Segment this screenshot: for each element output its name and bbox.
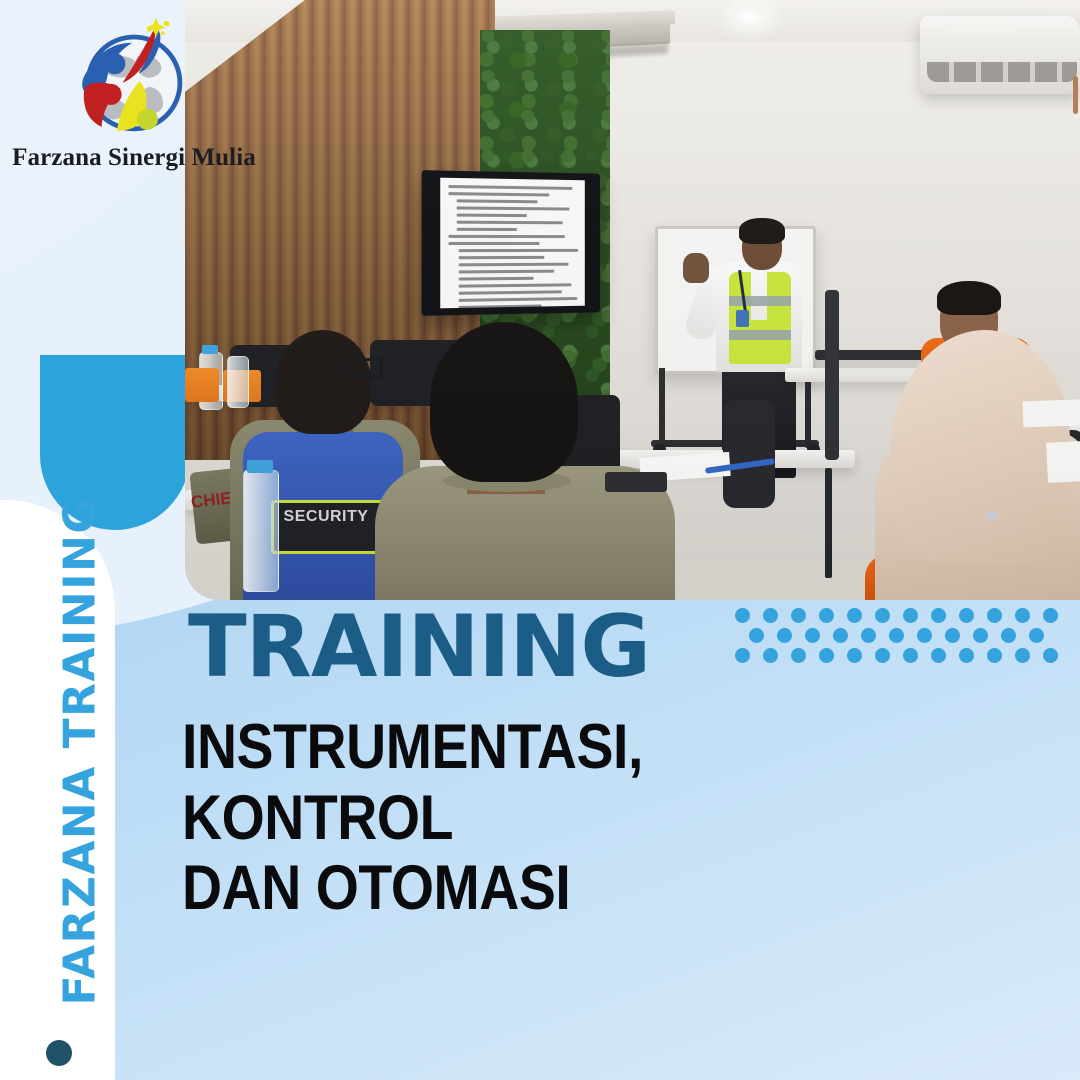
decor-dot [903, 608, 918, 623]
subtitle-line-2: DAN OTOMASI [182, 853, 912, 924]
decor-dot [875, 648, 890, 663]
decor-dot [777, 628, 792, 643]
dot-grid-decoration [735, 608, 1065, 666]
decor-dot [847, 648, 862, 663]
decor-dot [819, 648, 834, 663]
classroom-training-photo: CHIEF SECURITY [185, 0, 1080, 600]
decor-dot [1029, 628, 1044, 643]
sidebar-vertical-label: FARZANA TRAINING [55, 526, 106, 1006]
decor-dot [987, 608, 1002, 623]
decor-dot [917, 628, 932, 643]
decor-dot [959, 648, 974, 663]
company-name: Farzana Sinergi Mulia [8, 144, 260, 172]
decor-dot [931, 648, 946, 663]
decor-dot [959, 608, 974, 623]
decor-dot [875, 608, 890, 623]
decor-dot [847, 608, 862, 623]
decor-dot [1043, 608, 1058, 623]
decor-dot [931, 608, 946, 623]
page-subtitle: INSTRUMENTASI, KONTROL DAN OTOMASI [182, 712, 912, 924]
decor-dot [1015, 648, 1030, 663]
decor-dot [791, 608, 806, 623]
decor-dot [987, 648, 1002, 663]
page-title: TRAINING [188, 607, 650, 689]
globe-with-people-logo [67, 14, 201, 148]
decor-dot [903, 648, 918, 663]
decor-dot [805, 628, 820, 643]
decor-dot [735, 648, 750, 663]
decor-dot [735, 608, 750, 623]
brand-logo: Farzana Sinergi Mulia [8, 14, 260, 189]
bullet-dot-icon [46, 1040, 72, 1066]
decor-dot [791, 648, 806, 663]
decor-dot [1015, 608, 1030, 623]
decor-dot [889, 628, 904, 643]
subtitle-line-1: INSTRUMENTASI, KONTROL [182, 712, 912, 853]
decor-dot [945, 628, 960, 643]
photo-tint [185, 0, 1080, 600]
decor-dot [763, 648, 778, 663]
decor-dot [749, 628, 764, 643]
decor-dot [833, 628, 848, 643]
poster-canvas: CHIEF SECURITY [0, 0, 1080, 1080]
decor-dot [861, 628, 876, 643]
decor-dot [973, 628, 988, 643]
decor-dot [1043, 648, 1058, 663]
decor-dot [763, 608, 778, 623]
decor-dot [819, 608, 834, 623]
decor-dot [1001, 628, 1016, 643]
